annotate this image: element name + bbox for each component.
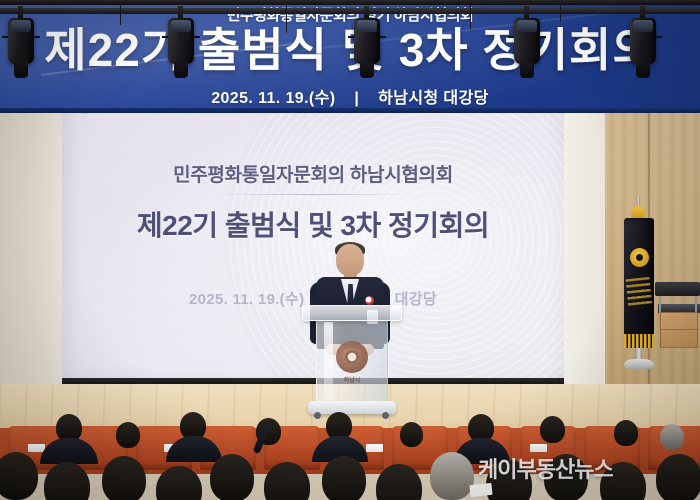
podium-top-shelf xyxy=(302,305,402,321)
spotlight-tail xyxy=(520,62,534,78)
flag-text-embroidery xyxy=(625,277,652,309)
seat-name-tag xyxy=(366,444,383,452)
spotlight-tail xyxy=(174,62,188,78)
spotlight-tail xyxy=(360,62,374,78)
lighting-cable xyxy=(120,3,121,25)
ceiling-truss xyxy=(0,8,700,14)
slide-divider xyxy=(212,194,412,195)
banner-date-line: 2025. 11. 19.(수) | 하남시청 대강당 xyxy=(0,84,700,108)
audience xyxy=(0,400,700,500)
podium: 하남시 xyxy=(306,305,398,415)
spotlight-lens xyxy=(11,20,31,32)
spotlight-lens xyxy=(517,20,537,32)
audience-head xyxy=(322,456,366,500)
slide-organization: 민주평화통일자문회의 하남시협의회 xyxy=(62,160,564,187)
banner-bottom-edge xyxy=(0,108,700,113)
spotlight-lens xyxy=(633,20,653,32)
flower-corsage-icon xyxy=(365,296,374,305)
hanam-city-emblem-icon xyxy=(336,341,368,373)
ceiling-truss-upper xyxy=(0,0,700,5)
flag-stand-foot xyxy=(624,359,654,370)
audience-head xyxy=(660,424,684,450)
audience-head xyxy=(540,416,565,443)
lighting-cable xyxy=(286,3,287,33)
lighting-cable xyxy=(560,3,561,21)
cardboard-box xyxy=(660,312,698,348)
flag-fringe xyxy=(624,334,654,348)
banner-location: 하남시청 대강당 xyxy=(378,90,489,107)
stage-banner: 민주평화통일자문회의 경기 하남시협의회 제22기 출범식 및 3차 정기회의 … xyxy=(0,0,700,112)
audience-head xyxy=(614,420,638,446)
seat-name-tag xyxy=(530,444,547,452)
audience-head xyxy=(656,454,700,500)
right-wall-panel xyxy=(563,88,605,384)
flag-stand xyxy=(624,348,654,370)
audience-head xyxy=(400,422,423,447)
banner-title: 제22기 출범식 및 3차 정기회의 xyxy=(0,26,700,75)
spotlight-lens xyxy=(171,20,191,32)
audience-paper xyxy=(469,483,492,497)
slide-title: 제22기 출범식 및 3차 정기회의 xyxy=(62,204,564,244)
audience-head xyxy=(0,452,38,500)
left-wall-panel xyxy=(0,88,63,384)
podium-emblem-label: 하남시 xyxy=(336,375,368,384)
cart-top xyxy=(655,282,700,296)
spotlight-tail xyxy=(636,62,650,78)
spotlight-lens xyxy=(357,20,377,32)
banner-date: 2025. 11. 19.(수) xyxy=(211,90,335,107)
lighting-cable xyxy=(470,3,471,29)
flag-emblem-icon xyxy=(630,248,649,267)
audience-head xyxy=(430,452,474,500)
event-photo: 민주평화통일자문회의 민주평화통일자문회의 하남시협의회 제22기 출범식 및 … xyxy=(0,0,700,500)
spotlight-tail xyxy=(14,62,28,78)
watermark: 케이부동산뉴스 xyxy=(478,452,613,484)
audience-head xyxy=(116,422,140,448)
audience-head xyxy=(210,454,254,500)
podium-highlight xyxy=(324,322,333,400)
slide-date: 2025. 11. 19.(수) xyxy=(189,291,304,308)
audience-head xyxy=(102,456,146,500)
banner-separator: | xyxy=(340,90,373,108)
